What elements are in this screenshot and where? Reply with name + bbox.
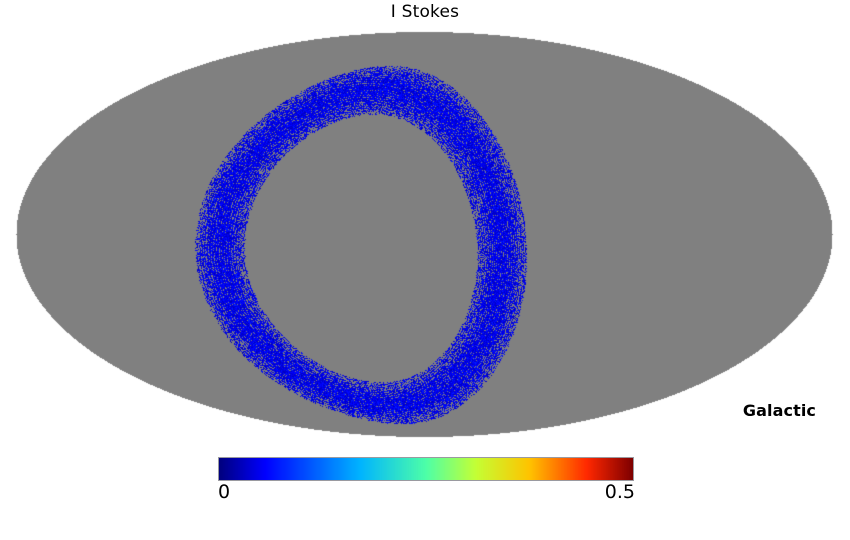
coordinate-system-label: Galactic: [743, 401, 816, 420]
page-title: I Stokes: [0, 2, 850, 22]
colorbar[interactable]: [218, 457, 634, 481]
figure-root: I Stokes Galactic 0 0.5: [0, 0, 850, 540]
colorbar-gradient: [218, 457, 634, 481]
colorbar-max-tick-label: 0.5: [0, 481, 635, 503]
